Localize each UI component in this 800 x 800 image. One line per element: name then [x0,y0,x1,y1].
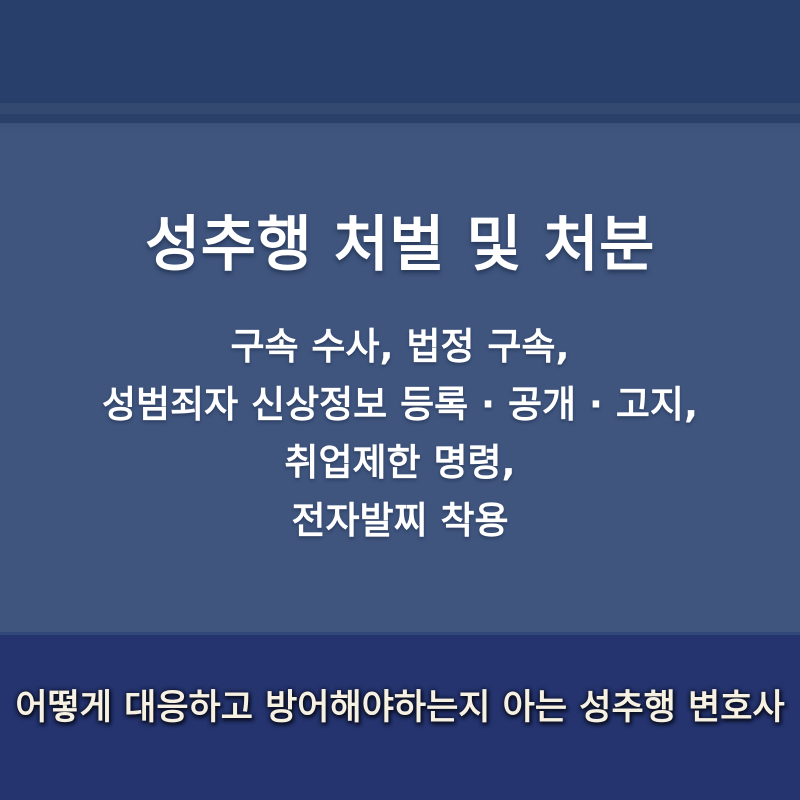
penalty-list-line-3: 취업제한 명령, [0,434,800,492]
page-title: 성추행 처벌 및 처분 [0,212,800,278]
top-band-stripe [0,114,800,123]
penalty-list-line-1: 구속 수사, 법정 구속, [0,318,800,376]
top-band-mid [0,103,800,114]
main-panel: 성추행 처벌 및 처분 구속 수사, 법정 구속, 성범죄자 신상정보 등록 ·… [0,133,800,634]
top-band-dark [0,0,800,103]
promo-card: 성추행 처벌 및 처분 구속 수사, 법정 구속, 성범죄자 신상정보 등록 ·… [0,0,800,800]
penalty-list-line-2: 성범죄자 신상정보 등록 · 공개 · 고지, [0,376,800,434]
footer-tagline: 어떻게 대응하고 방어해야하는지 아는 성추행 변호사 [0,686,800,730]
penalty-list-line-4: 전자발찌 착용 [0,492,800,550]
penalty-list: 구속 수사, 법정 구속, 성범죄자 신상정보 등록 · 공개 · 고지, 취업… [0,318,800,550]
top-band-fade [0,123,800,133]
footer-banner: 어떻게 대응하고 방어해야하는지 아는 성추행 변호사 [0,635,800,800]
